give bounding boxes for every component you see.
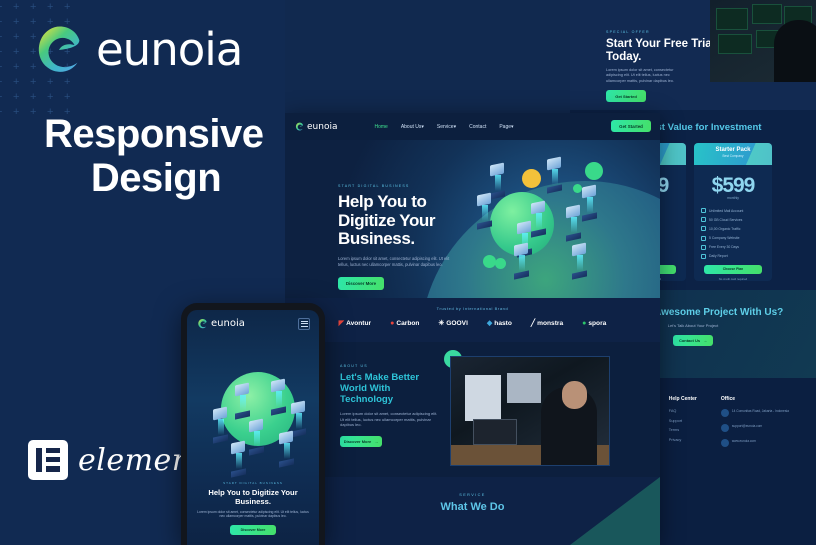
footer-link[interactable]: Privacy	[669, 438, 697, 442]
envelope-icon	[721, 424, 729, 432]
feature-text: Free Every 30 Days	[709, 245, 739, 249]
plus-icon: +	[47, 92, 53, 103]
spora-icon: ●	[582, 320, 586, 327]
what-we-do-section: SERVICE What We Do	[285, 477, 660, 545]
office-email-text: support@eunoia.com	[732, 424, 762, 428]
contact-us-label: Contact Us	[679, 338, 700, 343]
hero-paragraph: Lorem ipsum dolor sit amet, consectetur …	[338, 256, 458, 268]
plus-icon: +	[47, 2, 53, 13]
list-item: Free Every 30 Days	[701, 245, 772, 250]
plan-feature-list: Unlimited Mail Account 50 GB Cloud Servi…	[694, 208, 772, 259]
page-title: Responsive Design	[44, 112, 274, 200]
plus-icon: +	[30, 107, 36, 118]
goovi-icon: ✳	[438, 319, 444, 327]
feature-text: Unlimited Mail Account	[709, 209, 743, 213]
office-address-text: 14 Comunitas Road, Jakarta - Indonesia	[732, 409, 789, 413]
arrow-right-icon: →	[374, 439, 378, 444]
about-cta-label: Discover More	[344, 439, 372, 444]
plus-icon: +	[0, 2, 2, 13]
phone-navbar: eunoia	[187, 310, 319, 330]
eunoia-swirl-icon	[196, 317, 209, 330]
plus-icon: +	[30, 2, 36, 13]
plus-icon: +	[13, 32, 19, 43]
plan-price: 599	[722, 174, 754, 197]
plus-icon: +	[13, 47, 19, 58]
yellow-circle-accent	[522, 169, 541, 188]
about-cta-button[interactable]: Discover More →	[340, 436, 382, 447]
plus-icon: +	[0, 92, 2, 103]
carbon-icon: ●	[390, 320, 394, 327]
hero-title: Help You to Digitize Your Business.	[338, 193, 488, 249]
nav-item-about-us[interactable]: About Us▾	[401, 124, 424, 130]
list-item: Daily Report	[701, 254, 772, 259]
plus-icon: +	[64, 92, 70, 103]
plus-icon: +	[0, 107, 2, 118]
triangle-accent	[570, 477, 660, 545]
plan-note: No credit card required	[694, 277, 772, 281]
nav-item-page[interactable]: Page▾	[499, 124, 513, 130]
elementor-mark-icon	[28, 440, 68, 480]
plus-icon: +	[13, 62, 19, 73]
phone-screen: eunoia START DIGITAL BUSINESS Help You t…	[187, 310, 319, 545]
phone-paragraph: Lorem ipsum dolor sit amet, consectetur …	[196, 510, 310, 519]
nav-item-contact[interactable]: Contact	[469, 124, 486, 130]
list-item: Unlimited Mail Account	[701, 208, 772, 213]
check-icon	[701, 245, 706, 250]
feature-text: 10,00 Organic Traffic	[709, 227, 740, 231]
plus-icon: +	[13, 17, 19, 28]
nav-item-home[interactable]: Home	[374, 124, 387, 130]
nav-item-service[interactable]: Service▾	[437, 124, 456, 130]
navbar-menu: Home About Us▾ Service▾ Contact Page▾	[374, 124, 513, 130]
hero-kicker: START DIGITAL BUSINESS	[338, 184, 488, 188]
phone-mock: eunoia START DIGITAL BUSINESS Help You t…	[181, 303, 325, 545]
eunoia-swirl-icon	[28, 18, 90, 80]
footer-column-office: Office 14 Comunitas Road, Jakarta - Indo…	[721, 396, 789, 457]
navbar-logo-text: eunoia	[307, 122, 337, 132]
phone-title: Help You to Digitize Your Business.	[196, 488, 310, 506]
footer-link[interactable]: FAQ	[669, 409, 697, 413]
location-pin-icon	[721, 409, 729, 417]
navbar-logo[interactable]: eunoia	[294, 121, 337, 132]
page-title-line1: Responsive	[44, 112, 264, 156]
hero-section: START DIGITAL BUSINESS Help You to Digit…	[285, 140, 660, 298]
hamburger-menu-icon[interactable]	[298, 318, 310, 330]
brand-wordmark: eunoia	[96, 23, 242, 76]
pricing-card-starter[interactable]: Starter Pack Best Company $599 monthly U…	[694, 143, 772, 281]
phone-cta-button[interactable]: Discover More	[230, 525, 276, 535]
brand-logo-carbon: ●Carbon	[390, 320, 419, 327]
office-website-text: www.eunoia.com	[732, 439, 756, 443]
list-item: 5 Company Website	[701, 236, 772, 241]
trial-kicker: SPECIAL OFFER	[606, 30, 650, 34]
trial-paragraph: Lorem ipsum dolor sit amet, consectetur …	[606, 68, 690, 84]
footer-heading: Help Center	[669, 396, 697, 402]
plan-cta-button[interactable]: Choose Plan	[704, 265, 762, 274]
about-kicker: ABOUT US	[340, 364, 440, 368]
list-item: 10,00 Organic Traffic	[701, 226, 772, 231]
chevron-down-icon: ▾	[511, 124, 514, 130]
phone-logo-text: eunoia	[211, 318, 245, 329]
check-icon	[701, 208, 706, 213]
brand-logo-goovi: ✳GOOVI	[438, 319, 468, 327]
phone-logo[interactable]: eunoia	[196, 317, 245, 330]
office-address: 14 Comunitas Road, Jakarta - Indonesia	[721, 409, 789, 417]
brand-logo-monstra: ╱monstra	[531, 319, 563, 327]
dot-accent	[573, 184, 582, 193]
brand-logo-spora: ●spora	[582, 320, 606, 327]
plus-icon: +	[0, 62, 2, 73]
contact-us-button[interactable]: Contact Us →	[673, 335, 713, 346]
trial-cta-button[interactable]: Get Started	[606, 90, 646, 102]
free-trial-section: SPECIAL OFFER Start Your Free Trial Toda…	[570, 0, 816, 110]
plus-icon: +	[13, 2, 19, 13]
plus-icon: +	[13, 92, 19, 103]
feature-text: 50 GB Cloud Services	[709, 218, 742, 222]
feature-text: 5 Company Website	[709, 236, 739, 240]
brand-lockup: eunoia	[28, 18, 242, 80]
dot-accent	[495, 258, 506, 269]
person-at-workstation-photo	[450, 356, 610, 466]
plus-icon: +	[30, 92, 36, 103]
hasto-icon: ◆	[487, 319, 492, 327]
check-icon	[701, 254, 706, 259]
desktop-mock: eunoia Home About Us▾ Service▾ Contact P…	[285, 113, 660, 545]
brand-logo-avontur: ◤Avontur	[339, 319, 371, 327]
poster-stage: SPECIAL OFFER Start Your Free Trial Toda…	[0, 0, 816, 545]
plus-icon: +	[0, 77, 2, 88]
plus-icon: +	[13, 77, 19, 88]
plus-icon: +	[64, 2, 70, 13]
office-email[interactable]: support@eunoia.com	[721, 424, 789, 432]
brand-strip-title: Trusted by International Brand	[285, 306, 660, 311]
footer-link[interactable]: Terms	[669, 428, 697, 432]
plus-icon: +	[0, 17, 2, 28]
hero-cta-button[interactable]: Discover More	[338, 277, 384, 290]
page-title-line2: Design	[38, 156, 274, 200]
plan-currency: $	[712, 174, 723, 197]
site-navbar: eunoia Home About Us▾ Service▾ Contact P…	[285, 113, 660, 140]
about-title: Let's Make Better World With Technology	[340, 372, 440, 405]
footer-link[interactable]: Support	[669, 419, 697, 423]
monstra-icon: ╱	[531, 319, 535, 327]
list-item: 50 GB Cloud Services	[701, 217, 772, 222]
check-icon	[701, 236, 706, 241]
dot-accent	[585, 162, 603, 180]
chevron-down-icon: ▾	[454, 124, 457, 130]
chevron-down-icon: ▾	[421, 124, 424, 130]
brand-logo-hasto: ◆hasto	[487, 319, 512, 327]
phone-kicker: START DIGITAL BUSINESS	[196, 481, 310, 485]
brand-strip-section: Trusted by International Brand ◤Avontur …	[285, 298, 660, 342]
office-website[interactable]: www.eunoia.com	[721, 439, 789, 447]
about-paragraph: Lorem ipsum dolor sit amet, consectetur …	[340, 411, 440, 428]
globe-icon	[721, 439, 729, 447]
footer-column-help-center: Help Center FAQ Support Terms Privacy	[669, 396, 697, 457]
navbar-get-started-button[interactable]: Get Started	[611, 120, 651, 132]
plus-icon: +	[0, 47, 2, 58]
check-icon	[701, 217, 706, 222]
plus-icon: +	[13, 107, 19, 118]
feature-text: Daily Report	[709, 254, 728, 258]
brand-logo-row: ◤Avontur ●Carbon ✳GOOVI ◆hasto ╱monstra …	[285, 319, 660, 327]
plan-period: monthly	[694, 196, 772, 200]
trial-title: Start Your Free Trial Today.	[606, 38, 716, 64]
check-icon	[701, 226, 706, 231]
developer-monitors-photo	[710, 0, 816, 82]
about-section: ABOUT US Let's Make Better World With Te…	[285, 342, 660, 477]
footer-heading: Office	[721, 396, 789, 402]
plus-icon: +	[0, 32, 2, 43]
eunoia-swirl-icon	[294, 121, 305, 132]
avontur-icon: ◤	[339, 319, 344, 327]
arrow-right-icon: →	[703, 338, 707, 343]
